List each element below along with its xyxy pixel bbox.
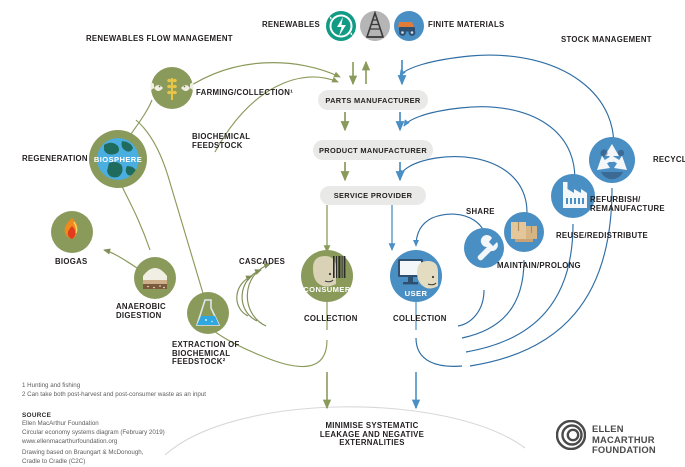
refurbish-factory-icon (551, 174, 595, 218)
arc-collection-to-loops (416, 338, 462, 366)
label-biogas: BIOGAS (55, 258, 88, 267)
arc-reuse-return (462, 260, 524, 338)
label-recycle: RECYCLE (653, 156, 685, 165)
caption-biosphere: BIOSPHERE (88, 155, 148, 164)
label-collection-user: COLLECTION (393, 315, 447, 324)
recycle-icon (589, 137, 635, 183)
label-farming-collection: FARMING/COLLECTION¹ (196, 89, 293, 98)
source-line-3[interactable]: www.ellenmacarthurfoundation.org (22, 438, 117, 447)
arc-digestion-to-biogas (104, 250, 137, 268)
source-heading: SOURCE (22, 411, 51, 420)
label-renewables-flow-management: RENEWABLES FLOW MANAGEMENT (86, 35, 233, 44)
source-line-2: Circular economy systems diagram (Februa… (22, 429, 165, 438)
box-product-manufacturer[interactable]: PRODUCT MANUFACTURER (313, 140, 433, 160)
ellen-macarthur-logo-text: ELLEN MACARTHUR FOUNDATION (592, 424, 685, 456)
oil-rig-icon (360, 11, 390, 41)
arc-biosphere-to-farming (131, 100, 152, 134)
label-renewables: RENEWABLES (262, 21, 320, 30)
label-minimise-leakage: MINIMISE SYSTEMATIC LEAKAGE AND NEGATIVE… (307, 422, 437, 448)
label-share: SHARE (466, 208, 495, 217)
label-biochemical-feedstock: BIOCHEMICAL FEEDSTOCK (192, 133, 250, 150)
biogas-icon (51, 211, 93, 253)
label-finite-materials: FINITE MATERIALS (428, 21, 505, 30)
farming-collection-icon (151, 67, 194, 109)
arc-maintain-return (458, 290, 484, 326)
ellen-macarthur-logo-mark (556, 420, 586, 450)
label-stock-management: STOCK MANAGEMENT (561, 36, 652, 45)
label-collection-consumer: COLLECTION (304, 315, 358, 324)
source-credit: Drawing based on Braungart & McDonough, … (22, 449, 143, 467)
renewables-icon (326, 11, 356, 41)
label-extraction-biochemical-feedstock: EXTRACTION OF BIOCHEMICAL FEEDSTOCK² (172, 341, 240, 367)
box-service-provider[interactable]: SERVICE PROVIDER (320, 186, 426, 205)
caption-user: USER (386, 289, 446, 298)
footnote-2: 2 Can take both post-harvest and post-co… (22, 391, 206, 400)
consumer-icon (301, 250, 353, 302)
source-line-1: Ellen MacArthur Foundation (22, 420, 99, 429)
arc-recycle (400, 55, 614, 160)
caption-consumer: CONSUMER (297, 285, 357, 294)
footnote-1: 1 Hunting and fishing (22, 382, 80, 391)
anaerobic-digestion-icon (134, 257, 176, 299)
mining-truck-icon (394, 11, 424, 41)
label-reuse-redistribute: REUSE/REDISTRIBUTE (556, 232, 648, 241)
extraction-flask-icon (187, 292, 229, 334)
box-parts-manufacturer[interactable]: PARTS MANUFACTURER (318, 90, 428, 110)
diagram-canvas: RENEWABLES FLOW MANAGEMENT RENEWABLES FI… (0, 0, 685, 461)
label-regeneration: REGENERATION (22, 155, 88, 164)
label-cascades: CASCADES (239, 258, 285, 267)
arc-regeneration-inflow (120, 182, 150, 250)
label-refurbish-remanufacture: REFURBISH/ REMANUFACTURE (590, 196, 665, 213)
label-maintain-prolong: MAINTAIN/PROLONG (497, 262, 581, 271)
reuse-boxes-icon (504, 212, 544, 252)
label-anaerobic-digestion: ANAEROBIC DIGESTION (116, 303, 166, 320)
